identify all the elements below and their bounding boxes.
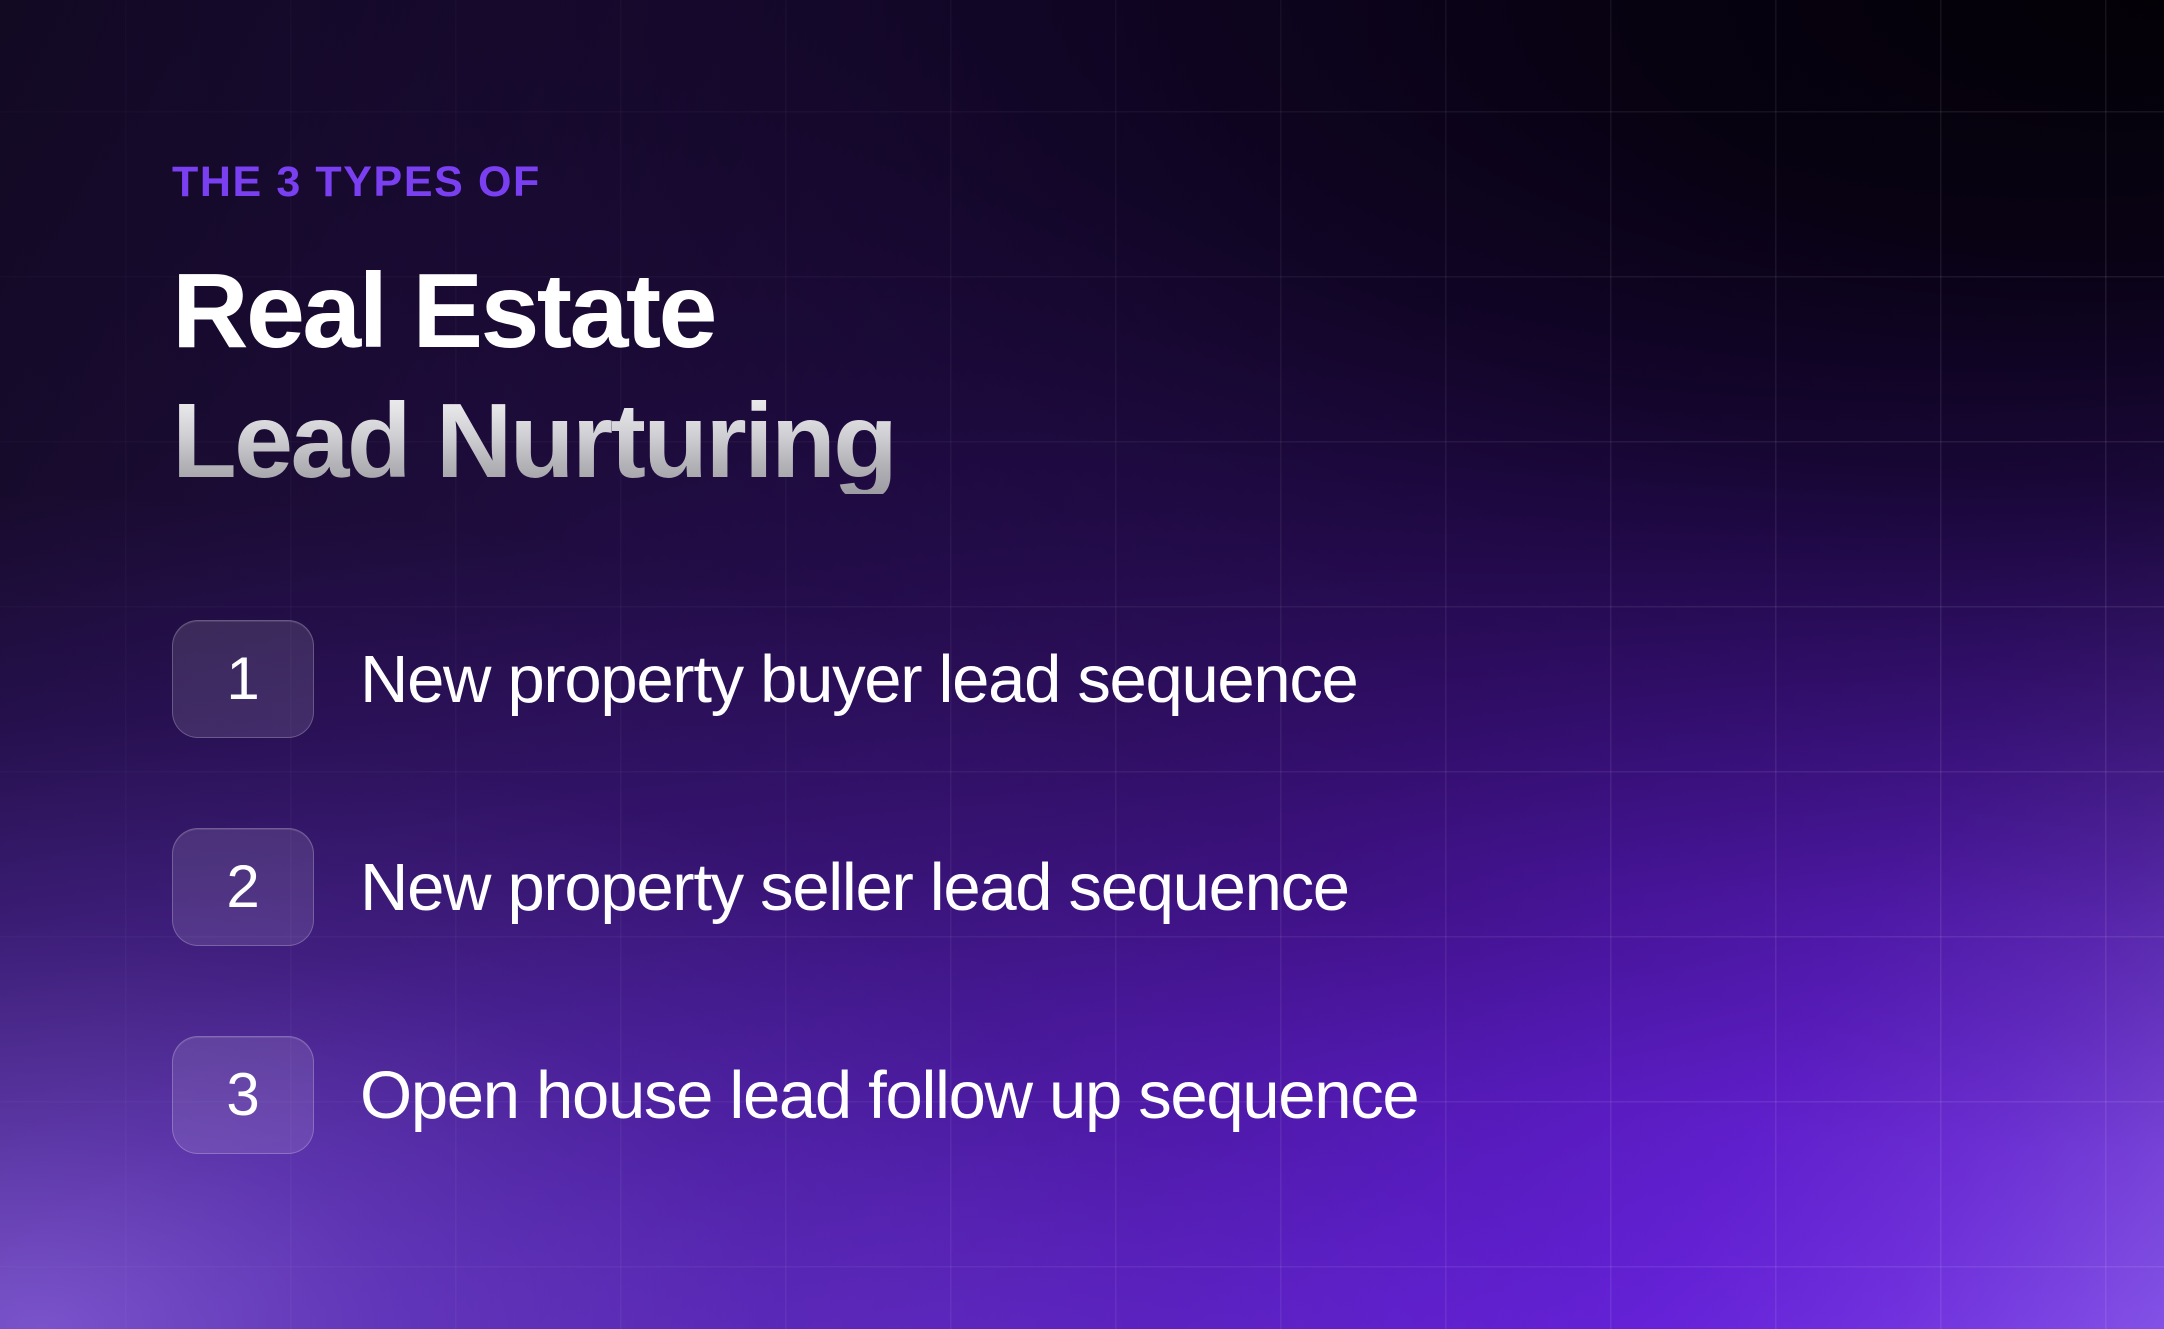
badge-number: 3 xyxy=(226,1065,259,1125)
list-item-label: New property seller lead sequence xyxy=(360,854,1349,921)
list-item: 1 New property buyer lead sequence xyxy=(172,620,2072,738)
numbered-list: 1 New property buyer lead sequence 2 New… xyxy=(172,620,2072,1244)
number-badge: 3 xyxy=(172,1036,314,1154)
list-item-label: New property buyer lead sequence xyxy=(360,646,1358,713)
list-item: 3 Open house lead follow up sequence xyxy=(172,1036,2072,1154)
list-item: 2 New property seller lead sequence xyxy=(172,828,2072,946)
number-badge: 2 xyxy=(172,828,314,946)
slide-canvas: THE 3 TYPES OF Real Estate Lead Nurturin… xyxy=(0,0,2164,1329)
list-item-label: Open house lead follow up sequence xyxy=(360,1062,1418,1129)
page-title-line-1: Real Estate xyxy=(172,258,715,364)
page-title-line-2: Lead Nurturing xyxy=(172,388,895,494)
badge-number: 1 xyxy=(226,649,259,709)
slide-content: THE 3 TYPES OF Real Estate Lead Nurturin… xyxy=(172,0,2072,1329)
number-badge: 1 xyxy=(172,620,314,738)
eyebrow-label: THE 3 TYPES OF xyxy=(172,158,541,207)
badge-number: 2 xyxy=(226,857,259,917)
